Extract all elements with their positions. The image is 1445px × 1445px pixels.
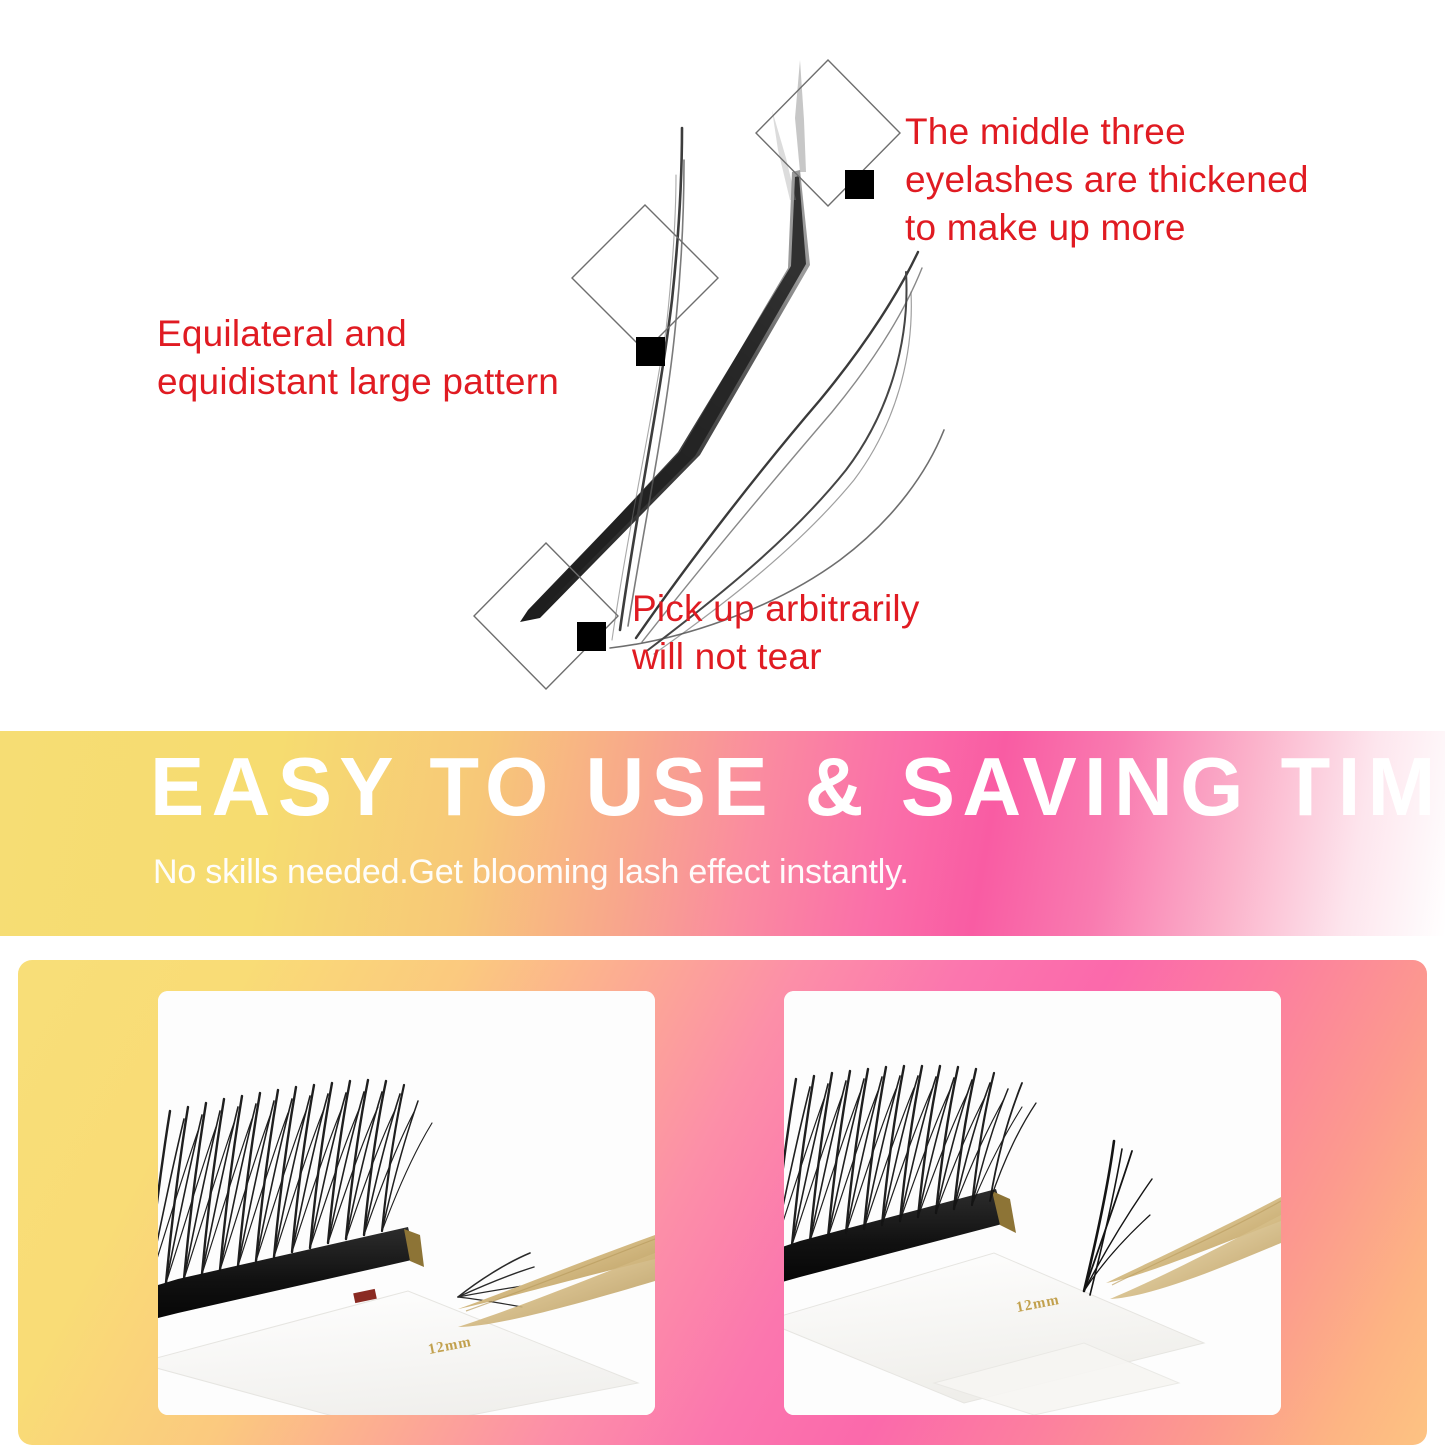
infographic-page: The middle three eyelashes are thickened…	[0, 0, 1445, 1445]
lash-thin-fibers	[610, 128, 944, 654]
lash-tray-photo-left	[158, 991, 655, 1415]
lash-tray-photo-right	[784, 991, 1281, 1415]
callout-text-equilateral: Equilateral and equidistant large patter…	[157, 310, 627, 406]
promo-banner: EASY TO USE & SAVING TIME No skills need…	[0, 731, 1445, 936]
banner-subheadline: No skills needed.Get blooming lash effec…	[153, 853, 909, 892]
callout-text-middle-three: The middle three eyelashes are thickened…	[905, 108, 1375, 252]
callout-marker-lower	[577, 622, 606, 651]
banner-headline: EASY TO USE & SAVING TIME	[150, 739, 1445, 834]
callout-diamond-lower	[474, 543, 618, 689]
callout-marker-middle	[636, 337, 665, 366]
product-photo-card-left[interactable]: 12mm	[158, 991, 655, 1415]
callout-text-pick-up: Pick up arbitrarily will not tear	[632, 585, 1032, 681]
product-photo-card-right[interactable]: 12mm	[784, 991, 1281, 1415]
lash-diagram-section: The middle three eyelashes are thickened…	[0, 0, 1445, 731]
product-photos-section: 12mm	[0, 936, 1445, 1445]
photos-gradient-panel: 12mm	[18, 960, 1427, 1445]
callout-marker-upper	[845, 170, 874, 199]
